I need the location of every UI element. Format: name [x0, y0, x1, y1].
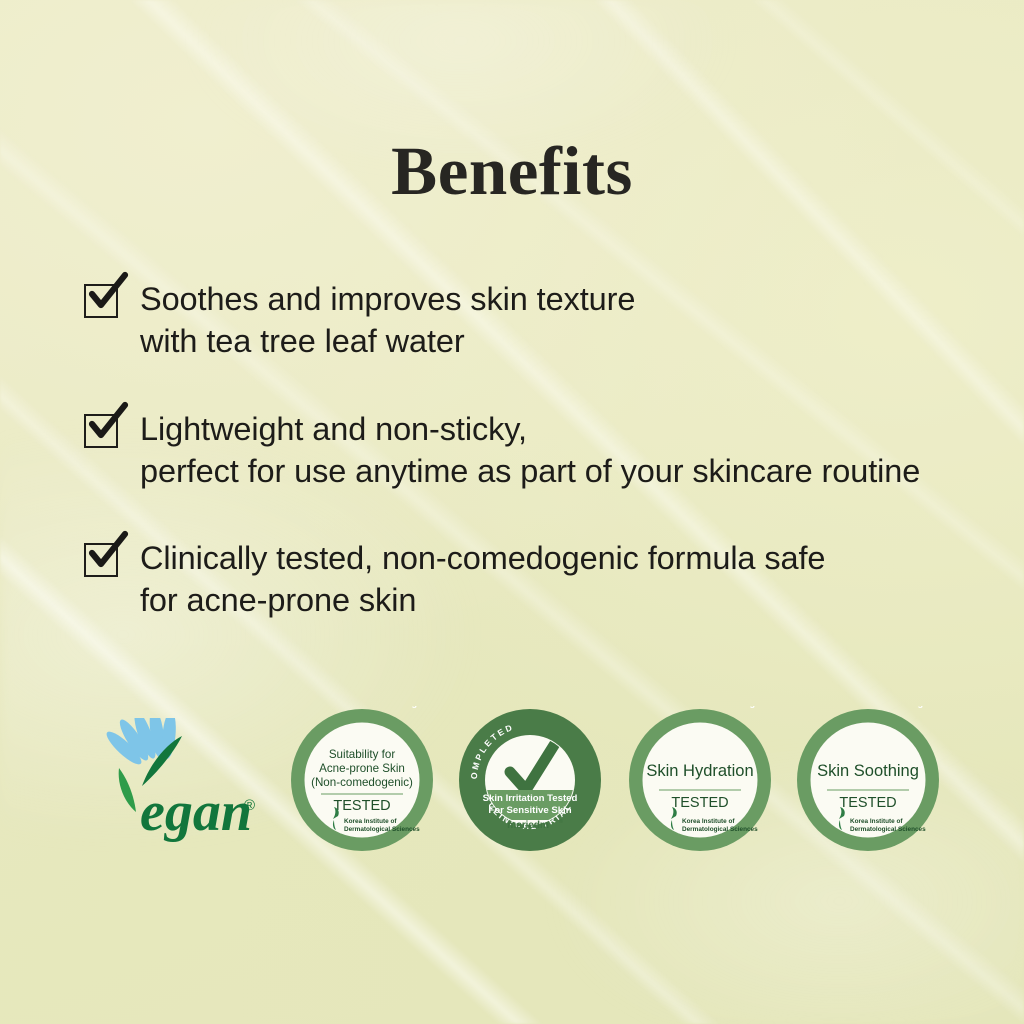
checked-checkbox-icon: [84, 414, 118, 448]
checked-checkbox-icon: [84, 543, 118, 577]
badge-title-line: Skin Soothing: [817, 762, 919, 780]
vegan-wordmark: egan: [130, 780, 252, 843]
badge-band-line: Skin Irritation Tested: [483, 793, 578, 804]
svg-text:egan: egan: [140, 781, 252, 843]
page-title: Benefits: [0, 132, 1024, 211]
badge-arc-text: Korea Institute of Dermatological Scienc…: [626, 706, 774, 708]
certification-badge-skin-hydration: Korea Institute of Dermatological Scienc…: [626, 706, 774, 854]
benefits-page: Benefits Soothes and improves skin textu…: [0, 0, 1024, 1024]
certifications-row: egan ® Korea Institute of Dermatological…: [0, 706, 1024, 876]
benefit-text: Lightweight and non-sticky, perfect for …: [140, 408, 920, 493]
badge-arc-text: Korea Institute of Dermatological Scienc…: [794, 706, 942, 708]
badge-footer-line: Dermatological Sciences: [344, 826, 420, 833]
benefit-text: Soothes and improves skin texture with t…: [140, 278, 635, 363]
badge-footer-line: Dermatological Sciences: [850, 826, 926, 833]
badge-arc-text: Korea Institute of Dermatological Scienc…: [288, 706, 436, 708]
certification-badge-acne-prone-suitability: Korea Institute of Dermatological Scienc…: [288, 706, 436, 854]
badge-title-line: Skin Hydration: [646, 762, 753, 780]
badge-band-line: For Sensitive Skin: [488, 805, 571, 816]
certification-badge-skin-soothing: Korea Institute of Dermatological Scienc…: [794, 706, 942, 854]
benefit-item: Clinically tested, non-comedogenic formu…: [84, 537, 984, 622]
benefit-text: Clinically tested, non-comedogenic formu…: [140, 537, 825, 622]
badge-brand: mariedm: [507, 819, 549, 831]
badge-footer-line: Korea Institute of: [344, 818, 397, 825]
benefit-item: Lightweight and non-sticky, perfect for …: [84, 408, 984, 493]
certification-badge-skin-irritation-clinical-trial: COMPLETED CLINICAL TRIAL Skin Irritation…: [456, 706, 604, 854]
vegan-logo: egan ®: [78, 718, 268, 858]
benefit-item: Soothes and improves skin texture with t…: [84, 278, 984, 363]
registered-mark: ®: [559, 818, 563, 825]
badge-title-line: Suitability for: [329, 748, 396, 761]
registered-mark: ®: [244, 797, 255, 814]
badge-title-line: (Non-comedogenic): [311, 776, 413, 789]
checked-checkbox-icon: [84, 284, 118, 318]
vegan-flower-petals: [103, 718, 178, 768]
badge-footer-line: Dermatological Sciences: [682, 826, 758, 833]
badge-status: TESTED: [671, 795, 728, 811]
badge-footer-line: Korea Institute of: [850, 818, 903, 825]
benefits-list: Soothes and improves skin texture with t…: [84, 278, 984, 622]
badge-footer-line: Korea Institute of: [682, 818, 735, 825]
badge-status: TESTED: [333, 798, 390, 814]
badge-title-line: Acne-prone Skin: [319, 762, 405, 775]
badge-status: TESTED: [839, 795, 896, 811]
